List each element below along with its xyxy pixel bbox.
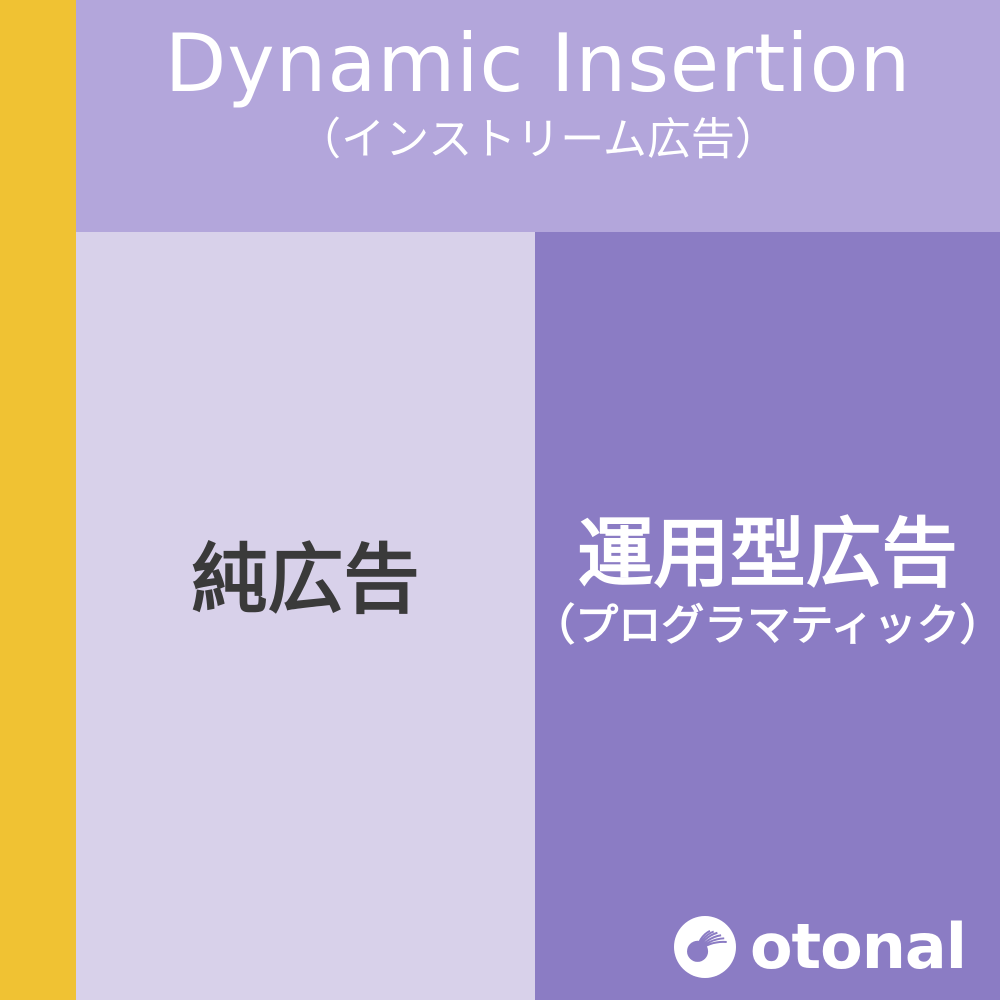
brand-logo: otonal [674, 916, 966, 978]
panel-pure-ad: 純広告 [76, 232, 535, 1000]
panel-programmatic-ad-label: 運用型広告 [578, 508, 958, 599]
page-subtitle: （インストリーム広告） [297, 115, 779, 166]
panel-programmatic-ad-sublabel: （プログラマティック） [532, 601, 1000, 653]
header-band: Dynamic Insertion （インストリーム広告） [76, 0, 1000, 232]
panel-programmatic-ad: 運用型広告 （プログラマティック） [535, 232, 1000, 1000]
panel-pure-ad-label: 純広告 [192, 534, 420, 625]
comparison-panels: 純広告 運用型広告 （プログラマティック） [76, 232, 1000, 1000]
vinyl-record-icon [674, 916, 736, 978]
brand-wordmark: otonal [750, 916, 966, 978]
page-title: Dynamic Insertion [165, 18, 912, 111]
accent-bar [0, 0, 76, 1000]
slide-canvas: Dynamic Insertion （インストリーム広告） 純広告 運用型広告 … [0, 0, 1000, 1000]
